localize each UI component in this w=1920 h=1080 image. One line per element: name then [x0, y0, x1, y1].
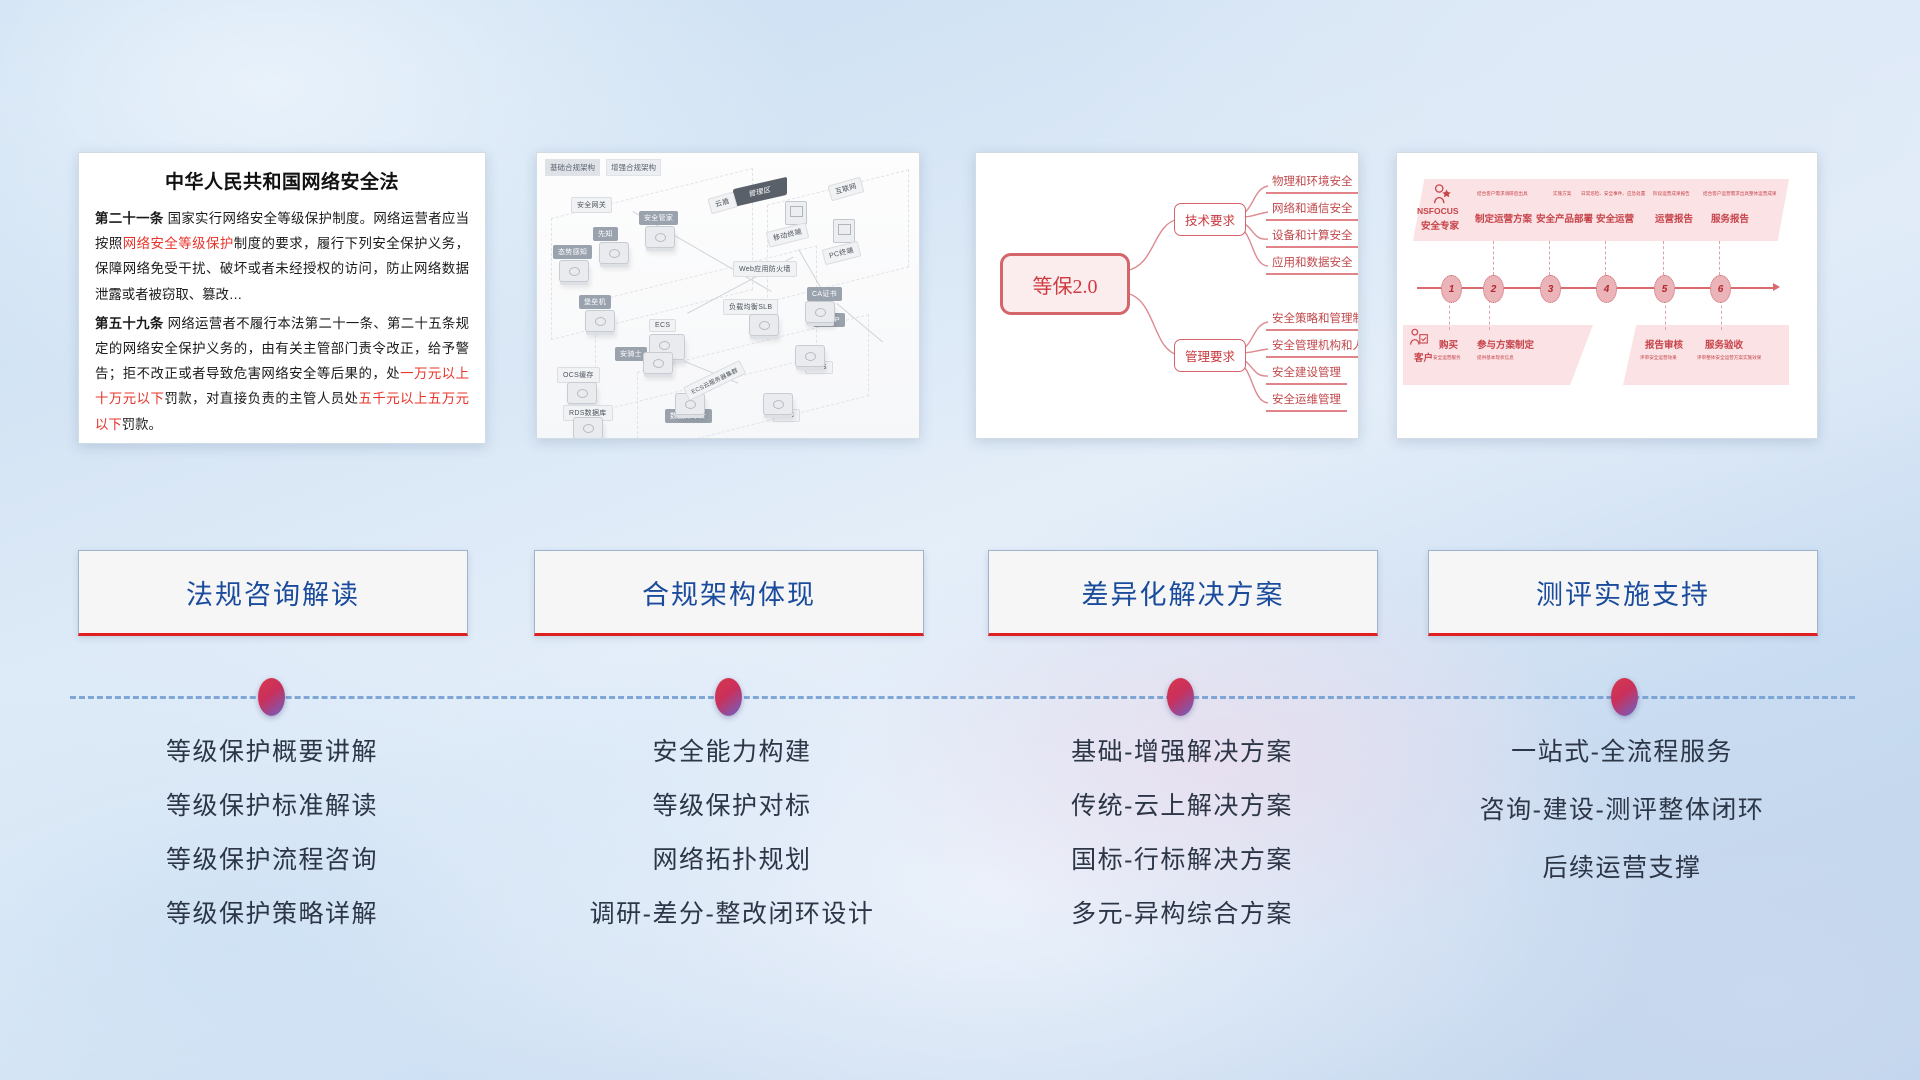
- mindmap-root-node: 等保2.0: [1000, 253, 1130, 315]
- node-ocs-cache: OCS缓存: [557, 367, 600, 383]
- law-title: 中华人民共和国网络安全法: [79, 167, 485, 194]
- roadmap-stem-6dn: [1721, 300, 1723, 330]
- law-article-59-part2: 罚款，对直接负责的主管人员处: [164, 391, 358, 406]
- timeline-dot-3[interactable]: [1167, 678, 1194, 716]
- node-ca-certificate: CA证书: [807, 287, 842, 301]
- node-ecs: ECS: [649, 319, 676, 332]
- bullet-4-1: 一站式-全流程服务: [1412, 740, 1832, 765]
- roadmap-node-1[interactable]: 1: [1441, 275, 1462, 303]
- mindmap: 等保2.0 技术要求 管理要求 物理和环境安全 网络和通信安全 设备和计算安全 …: [976, 153, 1358, 438]
- roadmap-node-3[interactable]: 3: [1540, 275, 1561, 303]
- card-row: 中华人民共和国网络安全法 第二十一条 国家实行网络安全等级保护制度。网络运营者应…: [0, 152, 1920, 447]
- bullet-2-3: 网络拓扑规划: [522, 848, 942, 873]
- roadmap-top-band: [1413, 179, 1789, 241]
- category-box-row: 法规咨询解读 合规架构体现 差异化解决方案 测评实施支持: [0, 550, 1920, 640]
- cube-xianzhi: [599, 242, 629, 264]
- roadmap-participate-sub: 提供基本现状信息: [1477, 355, 1514, 361]
- node-load-balancer-slb: 负载均衡SLB: [723, 299, 778, 315]
- roadmap-stem-6up: [1719, 241, 1721, 275]
- category-label-4: 测评实施支持: [1536, 573, 1710, 612]
- roadmap-purchase-sub: 安全运营服务: [1433, 355, 1461, 361]
- bullet-column-3: 基础-增强解决方案 传统-云上解决方案 国标-行标解决方案 多元-异构综合方案: [972, 740, 1392, 956]
- bullet-column-4: 一站式-全流程服务 咨询-建设-测评整体闭环 后续运营支撑: [1412, 740, 1832, 914]
- roadmap-step6-sub: 结合客户运营需求出具整体运营成果: [1703, 191, 1777, 197]
- roadmap-step5-title: 运营报告: [1655, 211, 1693, 225]
- mindmap-leaf-org-personnel: 安全管理机构和人员: [1266, 337, 1359, 358]
- card-service-roadmap[interactable]: NSFOCUS 安全专家 客户 结合客户需求调研后出具 制定运营方案 实施方案 …: [1396, 152, 1818, 439]
- category-box-compliance-architecture[interactable]: 合规架构体现: [534, 550, 924, 636]
- roadmap-node-4[interactable]: 4: [1596, 275, 1617, 303]
- architecture-diagram: 基础合规架构 增强合规架构 管理区 安全管家 先知: [537, 153, 919, 438]
- timeline-dot-4[interactable]: [1611, 678, 1638, 716]
- roadmap-step2-title: 制定运营方案: [1475, 211, 1532, 225]
- bullet-2-4: 调研-差分-整改闭环设计: [522, 902, 942, 927]
- mindmap-leaf-construction-mgmt: 安全建设管理: [1266, 364, 1347, 385]
- bullet-1-3: 等级保护流程咨询: [62, 848, 482, 873]
- law-body: 第二十一条 国家实行网络安全等级保护制度。网络运营者应当按照网络安全等级保护制度…: [79, 206, 485, 437]
- node-security-butler: 安全管家: [639, 211, 678, 225]
- law-article-59-part3: 罚款。: [122, 417, 162, 432]
- bullet-1-4: 等级保护策略详解: [62, 902, 482, 927]
- card-cybersecurity-law[interactable]: 中华人民共和国网络安全法 第二十一条 国家实行网络安全等级保护制度。网络运营者应…: [78, 152, 486, 444]
- customer-icon: [1409, 328, 1429, 348]
- roadmap-customer-label: 客户: [1414, 350, 1433, 364]
- card-cloud-architecture[interactable]: 基础合规架构 增强合规架构 管理区 安全管家 先知: [536, 152, 920, 439]
- card-mindmap-dengbao[interactable]: 等保2.0 技术要求 管理要求 物理和环境安全 网络和通信安全 设备和计算安全 …: [975, 152, 1359, 439]
- roadmap-step4-title: 安全运营: [1596, 211, 1634, 225]
- cube-load-balancer: [749, 314, 779, 336]
- roadmap-stem-5dn: [1665, 300, 1667, 330]
- cube-situational-awareness: [559, 260, 589, 282]
- roadmap-expert-line1: NSFOCUS: [1417, 206, 1459, 216]
- roadmap-node-6[interactable]: 6: [1710, 275, 1731, 303]
- icon-pc-terminal: [833, 219, 855, 243]
- mindmap-leaf-device-compute: 设备和计算安全: [1266, 227, 1359, 248]
- category-label-2: 合规架构体现: [642, 573, 816, 612]
- bullet-3-3: 国标-行标解决方案: [972, 848, 1392, 873]
- roadmap-node-2[interactable]: 2: [1483, 275, 1504, 303]
- category-label-3: 差异化解决方案: [1082, 573, 1285, 612]
- timeline-dot-1[interactable]: [258, 678, 285, 716]
- roadmap-acceptance-title: 服务验收: [1705, 337, 1743, 351]
- roadmap-diagram: NSFOCUS 安全专家 客户 结合客户需求调研后出具 制定运营方案 实施方案 …: [1397, 153, 1817, 438]
- roadmap-axis-arrow-icon: [1773, 283, 1780, 291]
- bullet-3-4: 多元-异构综合方案: [972, 902, 1392, 927]
- category-box-differentiated-solution[interactable]: 差异化解决方案: [988, 550, 1378, 636]
- mindmap-leaf-policy-system: 安全策略和管理制度: [1266, 310, 1359, 331]
- node-xianzhi: 先知: [593, 227, 618, 241]
- bullet-1-2: 等级保护标准解读: [62, 794, 482, 819]
- cube-anti-ddos: [805, 301, 835, 323]
- node-bastion-host: 堡垒机: [579, 295, 611, 309]
- law-article-21-label: 第二十一条: [95, 211, 164, 226]
- roadmap-acceptance-sub: 评审整体安全运营方案实施效果: [1697, 355, 1761, 361]
- mindmap-branch-management: 管理要求: [1174, 339, 1246, 372]
- cube-ocs-cache: [567, 382, 597, 404]
- node-situational-awareness: 态势感知: [553, 245, 592, 259]
- law-article-59-label: 第五十九条: [95, 316, 164, 331]
- bullet-4-2: 咨询-建设-测评整体闭环: [1412, 798, 1832, 823]
- mindmap-leaf-ops-mgmt: 安全运维管理: [1266, 391, 1347, 412]
- roadmap-stem-4: [1605, 241, 1607, 275]
- security-expert-icon: [1431, 183, 1453, 205]
- roadmap-step6-title: 服务报告: [1711, 211, 1749, 225]
- cube-oss: [795, 345, 825, 367]
- roadmap-expert-line2: 安全专家: [1421, 218, 1459, 232]
- cube-bastion-host: [585, 310, 615, 332]
- mindmap-leaf-app-data: 应用和数据安全: [1266, 254, 1359, 275]
- icon-mobile-terminal: [785, 201, 807, 225]
- node-security-gateway: 安全网关: [571, 197, 612, 213]
- roadmap-stem-3: [1549, 241, 1551, 275]
- roadmap-report-review-title: 报告审核: [1645, 337, 1683, 351]
- law-article-21-highlight: 网络安全等级保护: [123, 236, 234, 251]
- roadmap-stem-2up: [1493, 241, 1495, 275]
- bullet-4-3: 后续运营支撑: [1412, 856, 1832, 881]
- architecture-tabs[interactable]: 基础合规架构 增强合规架构: [545, 159, 661, 176]
- node-web-application-firewall: Web应用防火墙: [733, 261, 797, 277]
- bullet-column-1: 等级保护概要讲解 等级保护标准解读 等级保护流程咨询 等级保护策略详解: [62, 740, 482, 956]
- cube-vpc: [763, 393, 793, 415]
- category-box-evaluation-support[interactable]: 测评实施支持: [1428, 550, 1818, 636]
- tab-basic-compliance[interactable]: 基础合规架构: [545, 159, 600, 176]
- mindmap-branch-technical: 技术要求: [1174, 203, 1246, 236]
- tab-enhanced-compliance[interactable]: 增强合规架构: [606, 159, 661, 176]
- cube-rds-database: [573, 417, 603, 439]
- mindmap-leaf-network-comm: 网络和通信安全: [1266, 200, 1359, 221]
- bullet-3-2: 传统-云上解决方案: [972, 794, 1392, 819]
- timeline-axis: [70, 696, 1855, 702]
- roadmap-report-review-sub: 评审安全运营效果: [1640, 355, 1677, 361]
- mindmap-leaf-physical-env: 物理和环境安全: [1266, 173, 1359, 194]
- roadmap-stem-2dn: [1489, 300, 1491, 330]
- bullet-2-2: 等级保护对标: [522, 794, 942, 819]
- bullet-column-2: 安全能力构建 等级保护对标 网络拓扑规划 调研-差分-整改闭环设计: [522, 740, 942, 956]
- bullet-columns: 等级保护概要讲解 等级保护标准解读 等级保护流程咨询 等级保护策略详解 安全能力…: [0, 740, 1920, 1040]
- cube-security-butler: [645, 226, 675, 248]
- bullet-3-1: 基础-增强解决方案: [972, 740, 1392, 765]
- roadmap-participate-title: 参与方案制定: [1477, 337, 1534, 351]
- roadmap-purchase-title: 购买: [1439, 337, 1458, 351]
- cube-anqishi: [643, 352, 673, 374]
- roadmap-step4-sub: 日常巡检、安全事件、应急处置: [1581, 191, 1645, 197]
- bullet-1-1: 等级保护概要讲解: [62, 740, 482, 765]
- roadmap-step5-sub: 阶段运营成果报告: [1653, 191, 1690, 197]
- bullet-2-1: 安全能力构建: [522, 740, 942, 765]
- roadmap-step3-title: 安全产品部署: [1536, 211, 1593, 225]
- timeline-dot-2[interactable]: [715, 678, 742, 716]
- roadmap-step3-sub: 实施方案: [1553, 191, 1571, 197]
- roadmap-stem-1: [1449, 300, 1451, 330]
- category-label-1: 法规咨询解读: [186, 573, 360, 612]
- roadmap-step2-sub: 结合客户需求调研后出具: [1477, 191, 1528, 197]
- roadmap-node-5[interactable]: 5: [1654, 275, 1675, 303]
- category-box-regulation-consulting[interactable]: 法规咨询解读: [78, 550, 468, 636]
- roadmap-stem-5up: [1663, 241, 1665, 275]
